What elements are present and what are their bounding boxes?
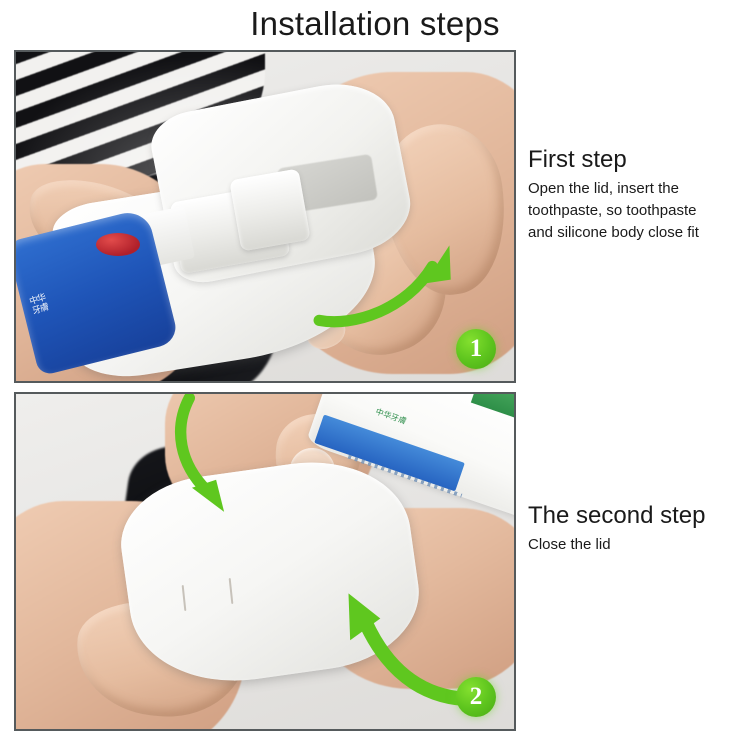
step-1-description: Open the lid, insert the toothpaste, so …: [528, 178, 746, 244]
step-1-heading: First step: [528, 144, 746, 176]
step-2-photo-panel: 中华牙膚 2: [14, 392, 516, 731]
step-2-photo: 中华牙膚: [16, 394, 514, 729]
step-1-text-block: First step Open the lid, insert the toot…: [528, 144, 746, 244]
toothpaste-logo: [96, 233, 141, 256]
step-1-photo-panel: 中华牙膚 1: [14, 50, 516, 383]
step-2-badge: 2: [456, 677, 496, 717]
product-instruction-image: Installation steps: [0, 0, 750, 750]
step-1-photo: 中华牙膚: [16, 52, 514, 381]
step-1-line-1: Open the lid, insert the: [528, 178, 746, 200]
arrow-open-lid-icon: [275, 223, 504, 341]
step-1-line-3: and silicone body close fit: [528, 222, 746, 244]
arrow-close-lid-down-icon: [126, 394, 275, 528]
step-2-heading: The second step: [528, 500, 746, 532]
page-title: Installation steps: [0, 4, 750, 44]
step-2-description: Close the lid: [528, 534, 746, 556]
step-1-line-2: toothpaste, so toothpaste: [528, 200, 746, 222]
step-2-text-block: The second step Close the lid: [528, 500, 746, 556]
step-2-line-1: Close the lid: [528, 534, 746, 556]
step-1-badge: 1: [456, 329, 496, 369]
